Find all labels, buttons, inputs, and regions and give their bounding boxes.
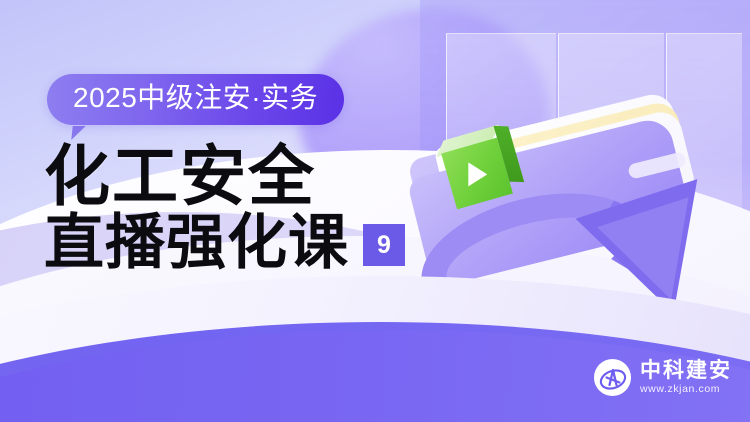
brand-text-block: 中科建安 www.zkjan.com xyxy=(640,360,732,395)
brand-logo: 中科建安 www.zkjan.com xyxy=(594,359,732,396)
course-category-pill: 2025中级注安·实务 xyxy=(47,74,344,125)
brand-name: 中科建安 xyxy=(640,360,732,382)
course-promo-banner: 2025中级注安·实务 化工安全 直播强化课 9 中科建安 www.zkjan.… xyxy=(0,0,750,422)
zkjan-monogram-icon xyxy=(594,359,631,396)
headline-block: 化工安全 直播强化课 9 xyxy=(44,144,474,274)
headline-row-2: 直播强化课 9 xyxy=(44,212,474,274)
episode-number-badge: 9 xyxy=(363,224,405,266)
pill-tail-icon xyxy=(71,126,92,140)
brand-url: www.zkjan.com xyxy=(640,384,732,395)
headline-row-1: 化工安全 xyxy=(44,144,474,212)
headline-line-2: 直播强化课 xyxy=(44,212,349,274)
headline-line-1: 化工安全 xyxy=(44,144,316,212)
